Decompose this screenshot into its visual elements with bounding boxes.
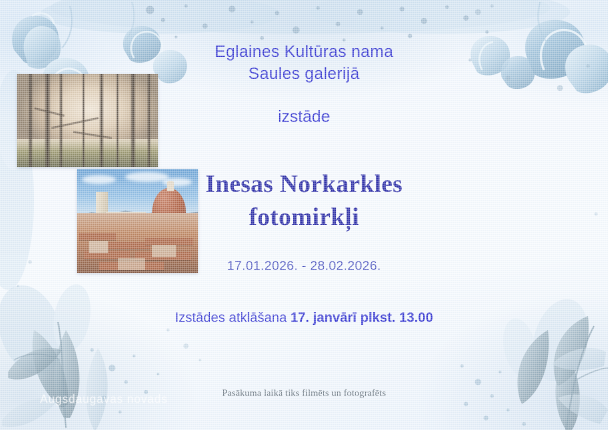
opening-info: Izstādes atklāšana 17. janvārī plkst. 13…: [0, 310, 608, 325]
poster-canvas: Eglaines Kultūras nama Saules galerijā i…: [0, 0, 608, 430]
exhibition-date-range: 17.01.2026. - 28.02.2026.: [0, 258, 608, 273]
exhibition-title: Inesas Norkarkles fotomirkļi: [0, 168, 608, 234]
venue-heading-line2: Saules galerijā: [0, 63, 608, 85]
exhibition-title-line2: fotomirkļi: [0, 201, 608, 234]
municipality-watermark: Augsdaugavas novads: [40, 394, 168, 406]
opening-info-prefix: Izstādes atklāšana: [175, 310, 291, 325]
venue-heading-line1: Eglaines Kultūras nama: [215, 43, 394, 61]
top-wash: [40, 0, 570, 34]
event-type-subtitle: izstāde: [0, 108, 608, 127]
forest-photo-stream: [17, 139, 158, 167]
top-speckles: [138, 4, 489, 41]
venue-heading: Eglaines Kultūras nama Saules galerijā: [0, 41, 608, 85]
leaf-cluster-bottom-left: [0, 277, 159, 430]
opening-info-datetime: 17. janvārī plkst. 13.00: [290, 310, 433, 325]
exhibition-title-line1: Inesas Norkarkles: [205, 171, 402, 198]
